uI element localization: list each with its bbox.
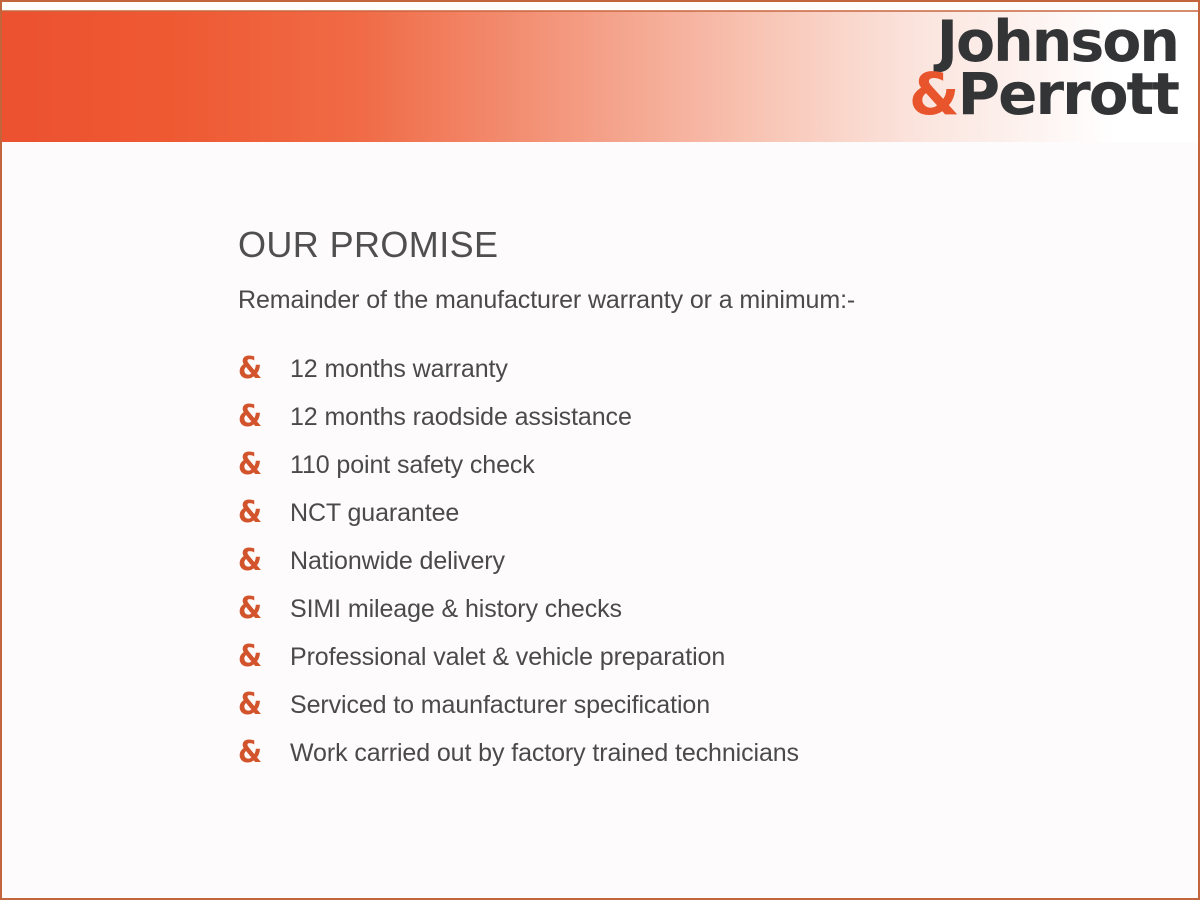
list-item: & NCT guarantee [238, 489, 1158, 537]
ampersand-bullet-icon: & [238, 690, 286, 720]
list-item-label: Work carried out by factory trained tech… [290, 739, 1158, 768]
johnson-perrott-logo: Johnson &Perrott [909, 16, 1178, 122]
list-item-label: 12 months raodside assistance [290, 403, 1158, 432]
ampersand-bullet-icon: & [238, 642, 286, 672]
promise-content: OUR PROMISE Remainder of the manufacture… [238, 224, 1158, 777]
list-item: & 12 months raodside assistance [238, 393, 1158, 441]
logo-text-perrott: Perrott [958, 60, 1178, 128]
ampersand-bullet-icon: & [238, 546, 286, 576]
list-item-label: SIMI mileage & history checks [290, 595, 1158, 624]
ampersand-bullet-icon: & [238, 498, 286, 528]
promise-page: Johnson &Perrott OUR PROMISE Remainder o… [0, 0, 1200, 900]
list-item-label: Nationwide delivery [290, 547, 1158, 576]
list-item: & Professional valet & vehicle preparati… [238, 633, 1158, 681]
list-item-label: Professional valet & vehicle preparation [290, 643, 1158, 672]
list-item: & SIMI mileage & history checks [238, 585, 1158, 633]
list-item: & 110 point safety check [238, 441, 1158, 489]
promise-subtitle: Remainder of the manufacturer warranty o… [238, 286, 1158, 315]
ampersand-bullet-icon: & [238, 450, 286, 480]
ampersand-bullet-icon: & [238, 738, 286, 768]
list-item: & Serviced to maunfacturer specification [238, 681, 1158, 729]
ampersand-bullet-icon: & [238, 594, 286, 624]
page-title: OUR PROMISE [238, 224, 1158, 266]
list-item: & Work carried out by factory trained te… [238, 729, 1158, 777]
logo-text-perrott-line: &Perrott [909, 68, 1178, 121]
promise-list: & 12 months warranty & 12 months raodsid… [238, 345, 1158, 777]
ampersand-bullet-icon: & [238, 402, 286, 432]
list-item-label: 12 months warranty [290, 355, 1158, 384]
list-item-label: NCT guarantee [290, 499, 1158, 528]
list-item: & 12 months warranty [238, 345, 1158, 393]
list-item: & Nationwide delivery [238, 537, 1158, 585]
logo-ampersand-icon: & [909, 60, 958, 128]
list-item-label: 110 point safety check [290, 451, 1158, 480]
ampersand-bullet-icon: & [238, 354, 286, 384]
list-item-label: Serviced to maunfacturer specification [290, 691, 1158, 720]
